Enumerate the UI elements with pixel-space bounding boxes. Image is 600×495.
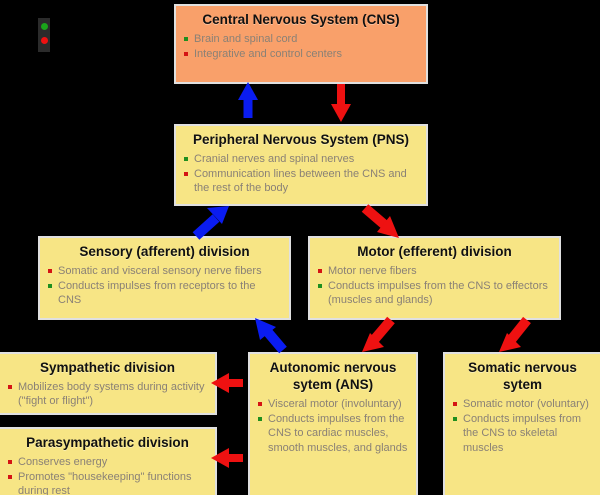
arrow-ans-to-sympathetic-icon bbox=[211, 373, 243, 393]
arrow-layer bbox=[0, 0, 600, 495]
arrow-pns-to-motor-icon bbox=[365, 208, 399, 238]
arrow-pns-to-cns-up-icon bbox=[238, 82, 258, 118]
arrow-cns-to-pns-down-icon bbox=[331, 84, 351, 122]
arrow-sensory-to-pns-icon bbox=[196, 206, 229, 236]
nervous-system-diagram: Central Nervous System (CNS) Brain and s… bbox=[0, 0, 600, 495]
arrow-ans-to-sensory-icon bbox=[255, 318, 283, 350]
arrow-motor-to-somatic-icon bbox=[499, 320, 527, 352]
arrow-motor-to-ans-icon bbox=[362, 320, 391, 352]
arrow-ans-to-parasympathetic-icon bbox=[211, 448, 243, 468]
